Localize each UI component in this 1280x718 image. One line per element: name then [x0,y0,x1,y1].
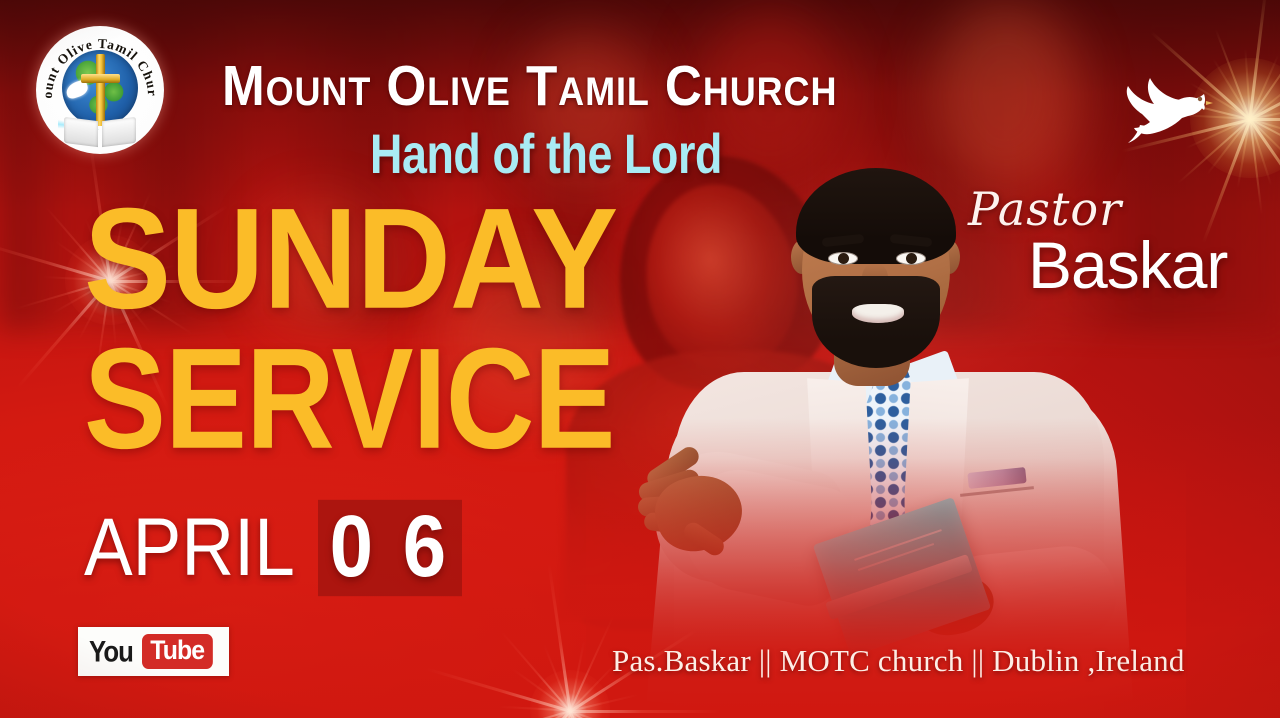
youtube-tube-text: Tube [142,634,212,669]
tagline-heading: Hand of the Lord [370,126,722,182]
event-date: APRIL 0 6 [84,505,462,591]
event-title-line1: SUNDAY [84,198,617,321]
poster-canvas: Mount Olive Tamil Church Mount Olive Tam… [0,0,1280,718]
pastor-label: Pastor [968,186,1122,232]
dove-icon [1112,52,1224,148]
cross-icon-crossbar [81,74,120,83]
church-logo: Mount Olive Tamil Church [36,26,164,154]
open-book-icon [64,119,136,145]
pastor-name: Baskar [1028,232,1227,298]
event-date-month: APRIL [84,507,295,589]
event-date-day: 0 6 [318,500,462,596]
event-title-line2: SERVICE [84,338,615,461]
church-name-heading: Mount Olive Tamil Church [222,58,837,115]
youtube-logo[interactable]: You Tube [78,627,229,676]
cross-icon [96,54,105,126]
youtube-you-text: You [89,637,133,666]
footer-credits: Pas.Baskar || MOTC church || Dublin ,Ire… [612,645,1185,676]
